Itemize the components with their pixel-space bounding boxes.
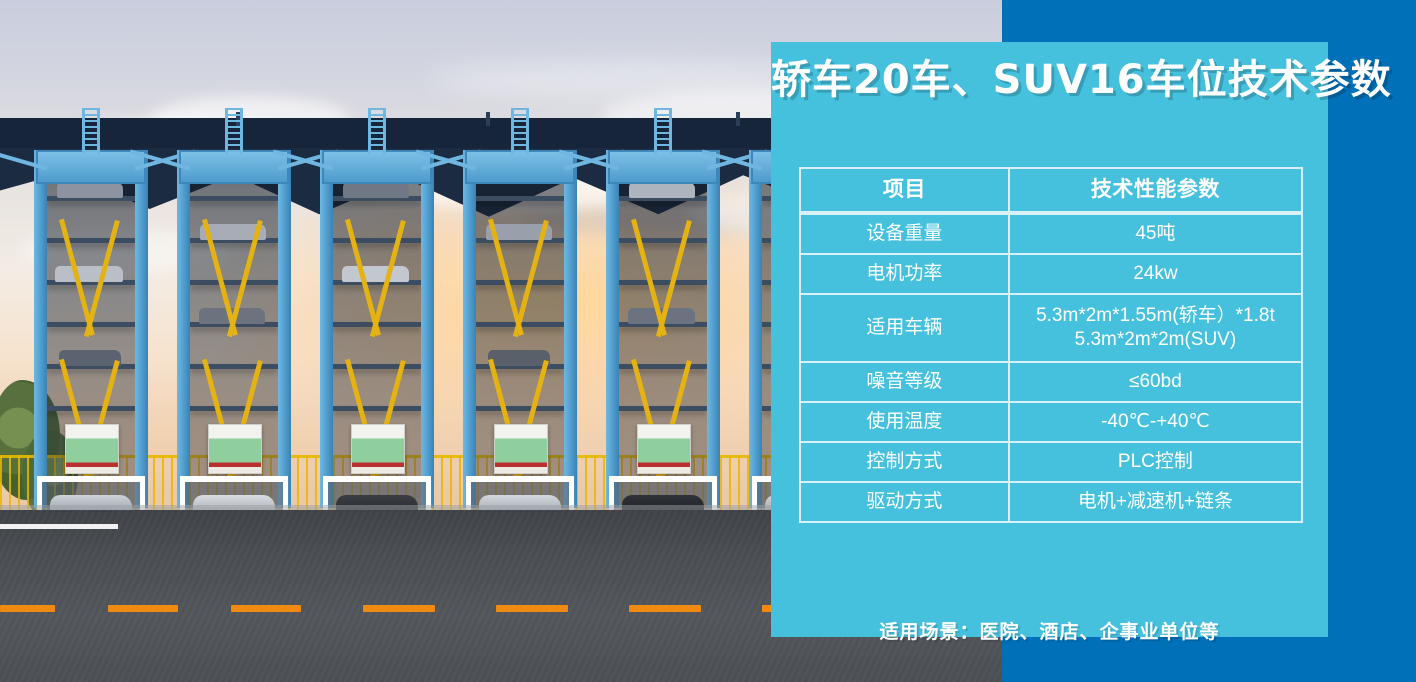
table-header-row: 项目 技术性能参数 <box>800 168 1302 213</box>
control-panel-cabinet <box>208 424 262 474</box>
row-value: ≤60bd <box>1009 362 1302 402</box>
control-panel-cabinet <box>65 424 119 474</box>
row-label: 控制方式 <box>800 442 1009 482</box>
parking-tower <box>175 150 293 508</box>
parking-tower <box>318 150 436 508</box>
row-label: 电机功率 <box>800 254 1009 294</box>
spec-panel: 轿车20车、SUV16车位技术参数 项目 技术性能参数 设备重量 45吨 电机功… <box>771 42 1328 637</box>
table-row: 驱动方式 电机+减速机+链条 <box>800 482 1302 522</box>
table-row: 噪音等级 ≤60bd <box>800 362 1302 402</box>
canopy-mast <box>736 112 740 126</box>
application-scenarios-note: 适用场景：医院、酒店、企事业单位等 <box>771 617 1328 644</box>
road-white-line <box>0 524 118 529</box>
row-label: 使用温度 <box>800 402 1009 442</box>
row-value: 24kw <box>1009 254 1302 294</box>
row-value: 电机+减速机+链条 <box>1009 482 1302 522</box>
row-value: 45吨 <box>1009 213 1302 254</box>
row-label: 适用车辆 <box>800 294 1009 362</box>
table-header-value: 技术性能参数 <box>1009 168 1302 213</box>
canopy-mast <box>486 112 490 126</box>
table-row: 电机功率 24kw <box>800 254 1302 294</box>
control-panel-cabinet <box>637 424 691 474</box>
table-row: 使用温度 -40℃-+40℃ <box>800 402 1302 442</box>
row-value-line-2: 5.3m*2m*2m(SUV) <box>1010 328 1301 352</box>
row-value-line-1: 5.3m*2m*1.55m(轿车）*1.8t <box>1010 304 1301 328</box>
row-label: 设备重量 <box>800 213 1009 254</box>
road-dash-marking <box>108 605 178 612</box>
parking-tower <box>32 150 150 508</box>
row-label: 噪音等级 <box>800 362 1009 402</box>
road-dash-marking <box>363 605 435 612</box>
table-row: 适用车辆 5.3m*2m*1.55m(轿车）*1.8t 5.3m*2m*2m(S… <box>800 294 1302 362</box>
row-value: -40℃-+40℃ <box>1009 402 1302 442</box>
page-title: 轿车20车、SUV16车位技术参数 <box>771 60 1328 100</box>
poster-canvas: 轿车20车、SUV16车位技术参数 项目 技术性能参数 设备重量 45吨 电机功… <box>0 0 1416 682</box>
road-dash-marking <box>231 605 301 612</box>
row-value: 5.3m*2m*1.55m(轿车）*1.8t 5.3m*2m*2m(SUV) <box>1009 294 1302 362</box>
road-dash-marking <box>0 605 55 612</box>
spec-table: 项目 技术性能参数 设备重量 45吨 电机功率 24kw 适用车辆 5.3m*2… <box>799 167 1303 523</box>
road-dash-marking <box>629 605 701 612</box>
table-row: 设备重量 45吨 <box>800 213 1302 254</box>
row-label: 驱动方式 <box>800 482 1009 522</box>
table-header-item: 项目 <box>800 168 1009 213</box>
road-dash-marking <box>496 605 568 612</box>
parking-tower <box>461 150 579 508</box>
control-panel-cabinet <box>351 424 405 474</box>
row-value: PLC控制 <box>1009 442 1302 482</box>
table-row: 控制方式 PLC控制 <box>800 442 1302 482</box>
parking-tower <box>604 150 722 508</box>
control-panel-cabinet <box>494 424 548 474</box>
